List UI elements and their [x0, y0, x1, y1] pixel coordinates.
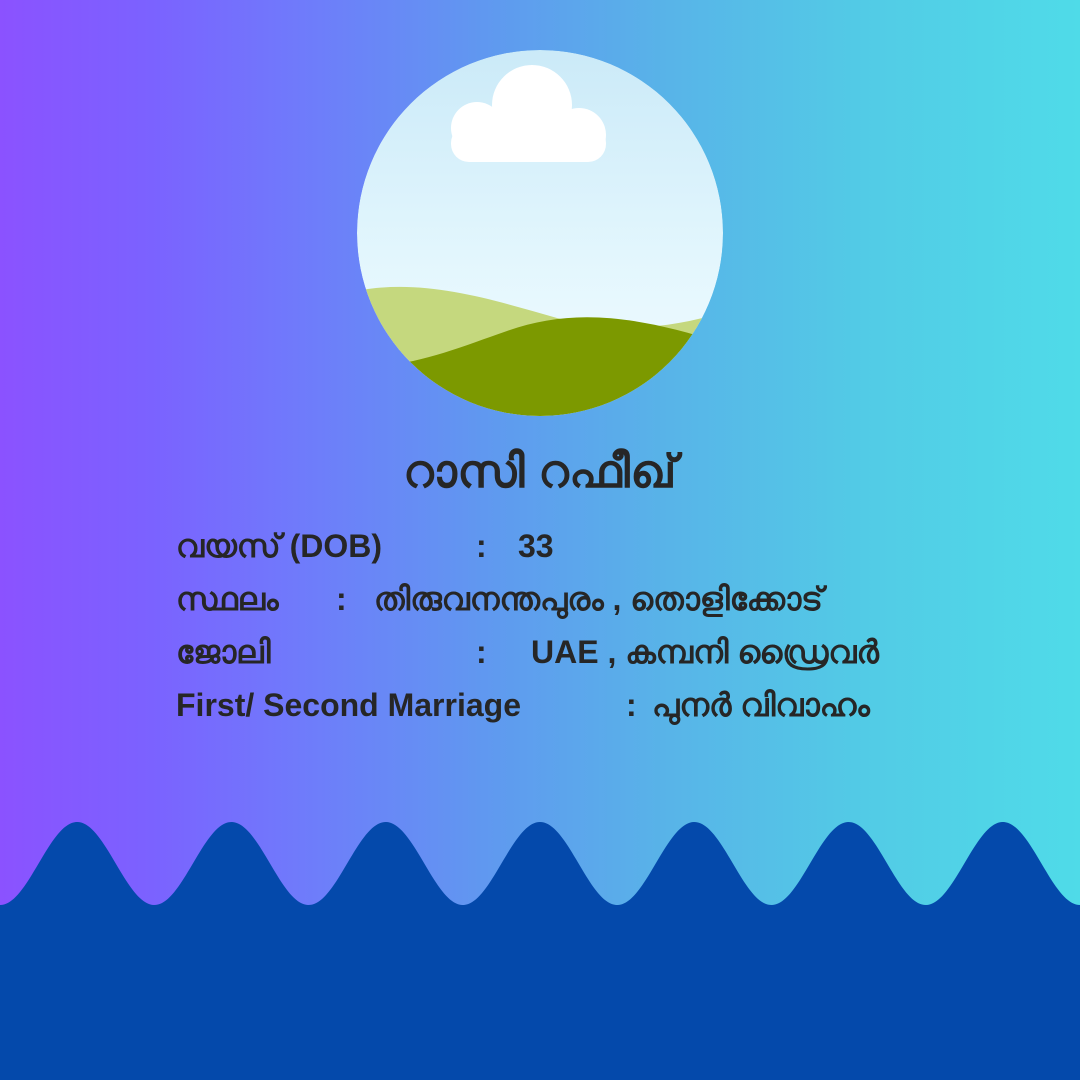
page-title: റാസി റഫീഖ് [0, 446, 1080, 497]
detail-value-place: തിരുവനന്തപുരം , തൊളിക്കോട് [374, 581, 823, 619]
detail-separator-place: : [336, 581, 374, 618]
detail-separator-dob: : [476, 528, 518, 565]
landscape-placeholder-icon [357, 50, 723, 416]
detail-label-job: ജോലി [176, 634, 476, 672]
wave-icon [0, 780, 1080, 1080]
detail-value-job: UAE , കമ്പനി ഡ്രൈവർ [531, 634, 879, 672]
detail-row-marriage: First/ Second Marriage : പുനർ വിവാഹം [176, 687, 1036, 740]
detail-value-marriage: പുനർ വിവാഹം [652, 687, 870, 725]
details-list: വയസ് (DOB) : 33 സ്ഥലം : തിരുവനന്തപുരം , … [176, 528, 1036, 740]
avatar[interactable] [357, 50, 723, 416]
detail-value-dob: 33 [518, 528, 554, 565]
detail-label-place: സ്ഥലം [176, 581, 336, 619]
detail-row-job: ജോലി : UAE , കമ്പനി ഡ്രൈവർ [176, 634, 1036, 687]
detail-row-dob: വയസ് (DOB) : 33 [176, 528, 1036, 581]
detail-label-marriage: First/ Second Marriage [176, 687, 626, 724]
detail-row-place: സ്ഥലം : തിരുവനന്തപുരം , തൊളിക്കോട് [176, 581, 1036, 634]
wave-decoration [0, 780, 1080, 1080]
detail-separator-job: : [476, 634, 531, 671]
profile-card: റാസി റഫീഖ് വയസ് (DOB) : 33 സ്ഥലം : തിരുവ… [0, 0, 1080, 1080]
detail-label-dob: വയസ് (DOB) [176, 528, 476, 566]
detail-separator-marriage: : [626, 687, 652, 724]
